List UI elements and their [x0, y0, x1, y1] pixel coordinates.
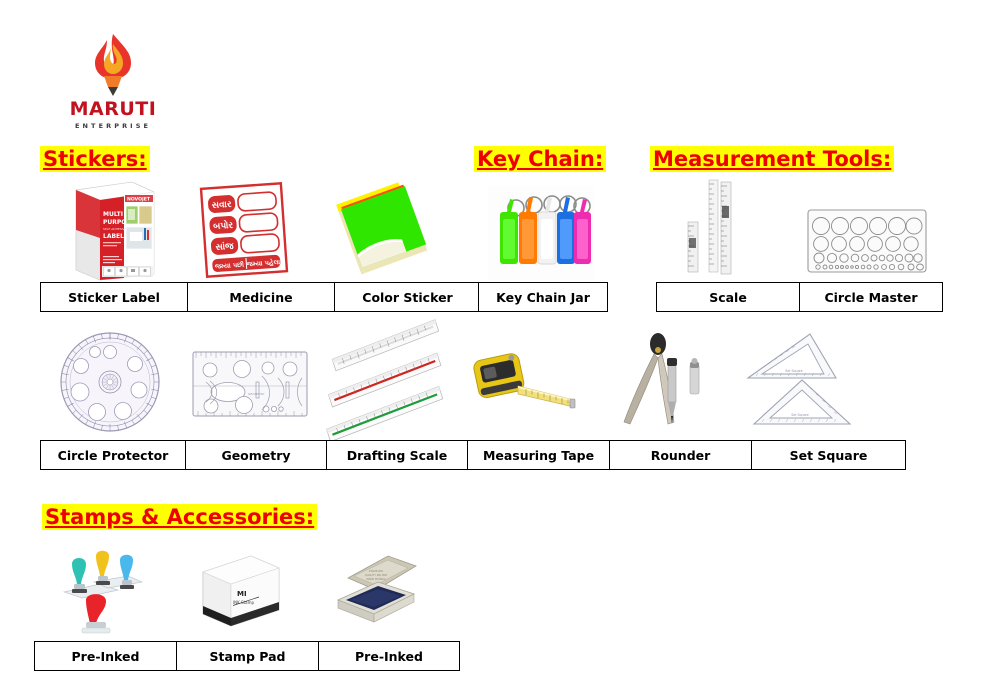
- product-image-rounder: [612, 330, 716, 430]
- table-row: Scale Circle Master: [657, 283, 943, 312]
- product-image-pre-inked-stamps: [48, 546, 158, 638]
- section-heading-measurement-tools: Measurement Tools:: [650, 146, 894, 172]
- product-image-medicine-sticker: સવાર બપોર સાંજ જમ્યા પછી જમ્યા પહેલા: [192, 180, 296, 280]
- label-table-key-chain: Key Chain Jar: [478, 282, 608, 312]
- svg-text:MADE IN INDIA: MADE IN INDIA: [366, 577, 385, 581]
- product-image-sticker-label: NOVOJET MULTI PURPOSE SELF-ADHESIVE LABE…: [62, 178, 158, 282]
- table-row: Pre-Inked Stamp Pad Pre-Inked: [35, 642, 460, 671]
- section-heading-stickers: Stickers:: [40, 146, 150, 172]
- product-label-sticker-label[interactable]: Sticker Label: [41, 283, 188, 312]
- svg-text:STAMP PAD: STAMP PAD: [369, 569, 384, 573]
- product-label-circle-protector[interactable]: Circle Protector: [41, 441, 186, 470]
- product-image-scale: [660, 176, 790, 280]
- svg-text:GEOMETRY: GEOMETRY: [248, 392, 265, 396]
- product-label-rounder[interactable]: Rounder: [610, 441, 752, 470]
- svg-text:MI: MI: [237, 590, 247, 598]
- product-image-drafting-scale: [322, 326, 452, 434]
- section-heading-key-chain: Key Chain:: [474, 146, 606, 172]
- svg-text:MULTI: MULTI: [103, 211, 123, 218]
- product-image-key-chain-jar: [488, 186, 594, 280]
- product-image-set-square: Set Square Set Square: [740, 330, 858, 432]
- svg-text:સવાર: સવાર: [211, 199, 232, 211]
- product-image-circle-protector: [55, 330, 165, 434]
- product-image-color-sticker: [326, 182, 442, 280]
- flame-pencil-logo-icon: [58, 32, 168, 98]
- table-row: Sticker Label Medicine Color Sticker: [41, 283, 481, 312]
- svg-text:LABELS: LABELS: [103, 233, 128, 240]
- logo-tagline: ENTERPRISE: [58, 122, 168, 130]
- label-table-stickers: Sticker Label Medicine Color Sticker: [40, 282, 481, 312]
- svg-text:QUALITY INK PAD: QUALITY INK PAD: [365, 573, 387, 577]
- product-label-medicine[interactable]: Medicine: [188, 283, 335, 312]
- product-label-drafting-scale[interactable]: Drafting Scale: [327, 441, 468, 470]
- product-label-key-chain-jar[interactable]: Key Chain Jar: [479, 283, 608, 312]
- svg-text:Set Square: Set Square: [785, 369, 803, 373]
- label-table-measurement-top: Scale Circle Master: [656, 282, 943, 312]
- svg-text:SELF-ADHESIVE: SELF-ADHESIVE: [103, 227, 127, 231]
- product-image-stamp-pad-box: MI INK Stamp: [193, 548, 287, 632]
- label-table-stamps: Pre-Inked Stamp Pad Pre-Inked: [34, 641, 460, 671]
- product-label-pre-inked-2[interactable]: Pre-Inked: [319, 642, 460, 671]
- section-heading-stamps-accessories: Stamps & Accessories:: [42, 504, 317, 530]
- svg-text:NOVOJET: NOVOJET: [127, 197, 151, 203]
- product-image-circle-master: [806, 206, 928, 276]
- table-row: Circle Protector Geometry Drafting Scale…: [41, 441, 906, 470]
- company-logo: MARUTI ENTERPRISE: [58, 32, 168, 132]
- table-row: Key Chain Jar: [479, 283, 608, 312]
- svg-text:સાંજ: સાંજ: [215, 241, 234, 253]
- product-image-geometry: GEOMETRY: [190, 348, 310, 420]
- product-label-stamp-pad[interactable]: Stamp Pad: [177, 642, 319, 671]
- catalog-page: MARUTI ENTERPRISE Stickers: Key Chain: M…: [0, 0, 992, 694]
- product-label-set-square[interactable]: Set Square: [752, 441, 906, 470]
- product-label-color-sticker[interactable]: Color Sticker: [335, 283, 481, 312]
- logo-company-name: MARUTI: [58, 100, 168, 119]
- product-label-scale[interactable]: Scale: [657, 283, 800, 312]
- product-label-pre-inked-1[interactable]: Pre-Inked: [35, 642, 177, 671]
- product-label-geometry[interactable]: Geometry: [186, 441, 327, 470]
- svg-text:Set Square: Set Square: [791, 413, 809, 417]
- product-label-circle-master[interactable]: Circle Master: [800, 283, 943, 312]
- label-table-measurement-bottom: Circle Protector Geometry Drafting Scale…: [40, 440, 906, 470]
- product-image-ink-pad-tin: STAMP PAD QUALITY INK PAD MADE IN INDIA: [330, 548, 422, 632]
- product-image-measuring-tape: [462, 340, 582, 426]
- product-label-measuring-tape[interactable]: Measuring Tape: [468, 441, 610, 470]
